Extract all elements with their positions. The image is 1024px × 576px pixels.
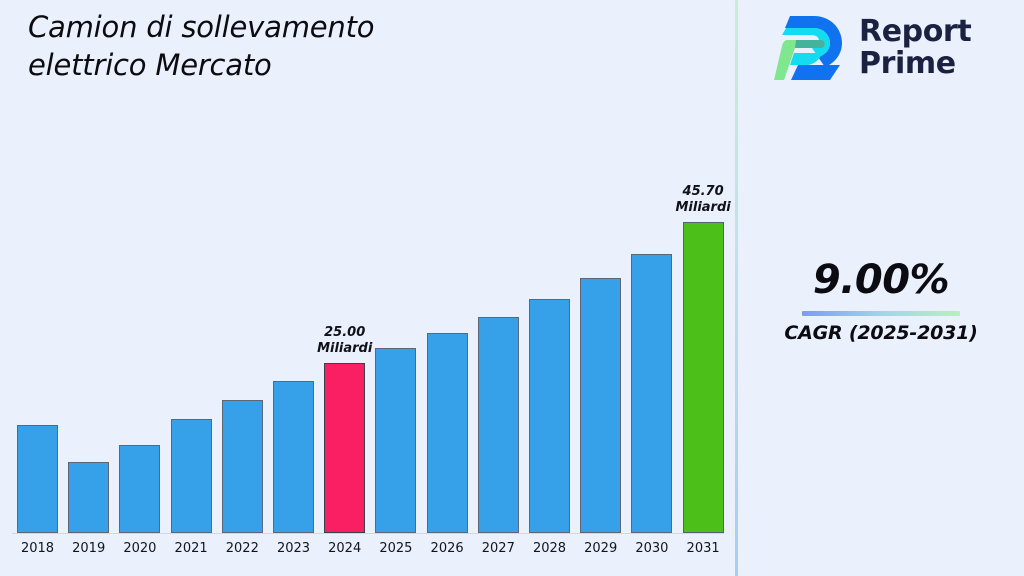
- brand-name-line-1: Report: [859, 16, 971, 48]
- cagr-value: 9.00%: [738, 258, 1024, 302]
- x-tick-label-2029: 2029: [575, 541, 627, 556]
- report-prime-logo-icon: [774, 10, 846, 86]
- bar-2019[interactable]: [68, 462, 109, 533]
- bar-chart-plot-area: 20182019202020212022202325.00 Miliardi20…: [0, 0, 736, 576]
- x-tick-label-2020: 2020: [114, 541, 166, 556]
- x-tick-label-2023: 2023: [268, 541, 320, 556]
- bar-2024[interactable]: [324, 363, 365, 533]
- x-axis-baseline: [12, 533, 724, 534]
- bar-2026[interactable]: [427, 333, 468, 533]
- x-tick-label-2021: 2021: [165, 541, 217, 556]
- x-tick-label-2030: 2030: [626, 541, 678, 556]
- bar-2031[interactable]: [683, 222, 724, 533]
- bar-2018[interactable]: [17, 425, 58, 533]
- cagr-divider: [802, 311, 960, 316]
- infographic-slide: Camion di sollevamento elettrico Mercato…: [0, 0, 1024, 576]
- cagr-caption: CAGR (2025-2031): [738, 322, 1024, 344]
- chart-panel: Camion di sollevamento elettrico Mercato…: [0, 0, 736, 576]
- bar-2023[interactable]: [273, 381, 314, 533]
- x-tick-label-2025: 2025: [370, 541, 422, 556]
- brand-name-line-2: Prime: [859, 48, 971, 80]
- bar-2021[interactable]: [171, 419, 212, 533]
- x-tick-label-2019: 2019: [63, 541, 115, 556]
- brand-wordmark: Report Prime: [859, 16, 971, 81]
- brand-logo: Report Prime: [774, 10, 971, 86]
- bar-2025[interactable]: [375, 348, 416, 533]
- x-tick-label-2018: 2018: [12, 541, 64, 556]
- bar-2022[interactable]: [222, 400, 263, 533]
- brand-panel: Report Prime 9.00% CAGR (2025-2031): [738, 0, 1024, 576]
- bar-2028[interactable]: [529, 299, 570, 533]
- x-tick-label-2027: 2027: [472, 541, 524, 556]
- x-tick-label-2022: 2022: [216, 541, 268, 556]
- bar-2030[interactable]: [631, 254, 672, 533]
- bar-2020[interactable]: [119, 445, 160, 534]
- bar-2029[interactable]: [580, 278, 621, 533]
- x-tick-label-2031: 2031: [677, 541, 729, 556]
- x-tick-label-2026: 2026: [421, 541, 473, 556]
- bar-2027[interactable]: [478, 317, 519, 533]
- x-tick-label-2028: 2028: [524, 541, 576, 556]
- x-tick-label-2024: 2024: [319, 541, 371, 556]
- cagr-block: 9.00% CAGR (2025-2031): [738, 258, 1024, 344]
